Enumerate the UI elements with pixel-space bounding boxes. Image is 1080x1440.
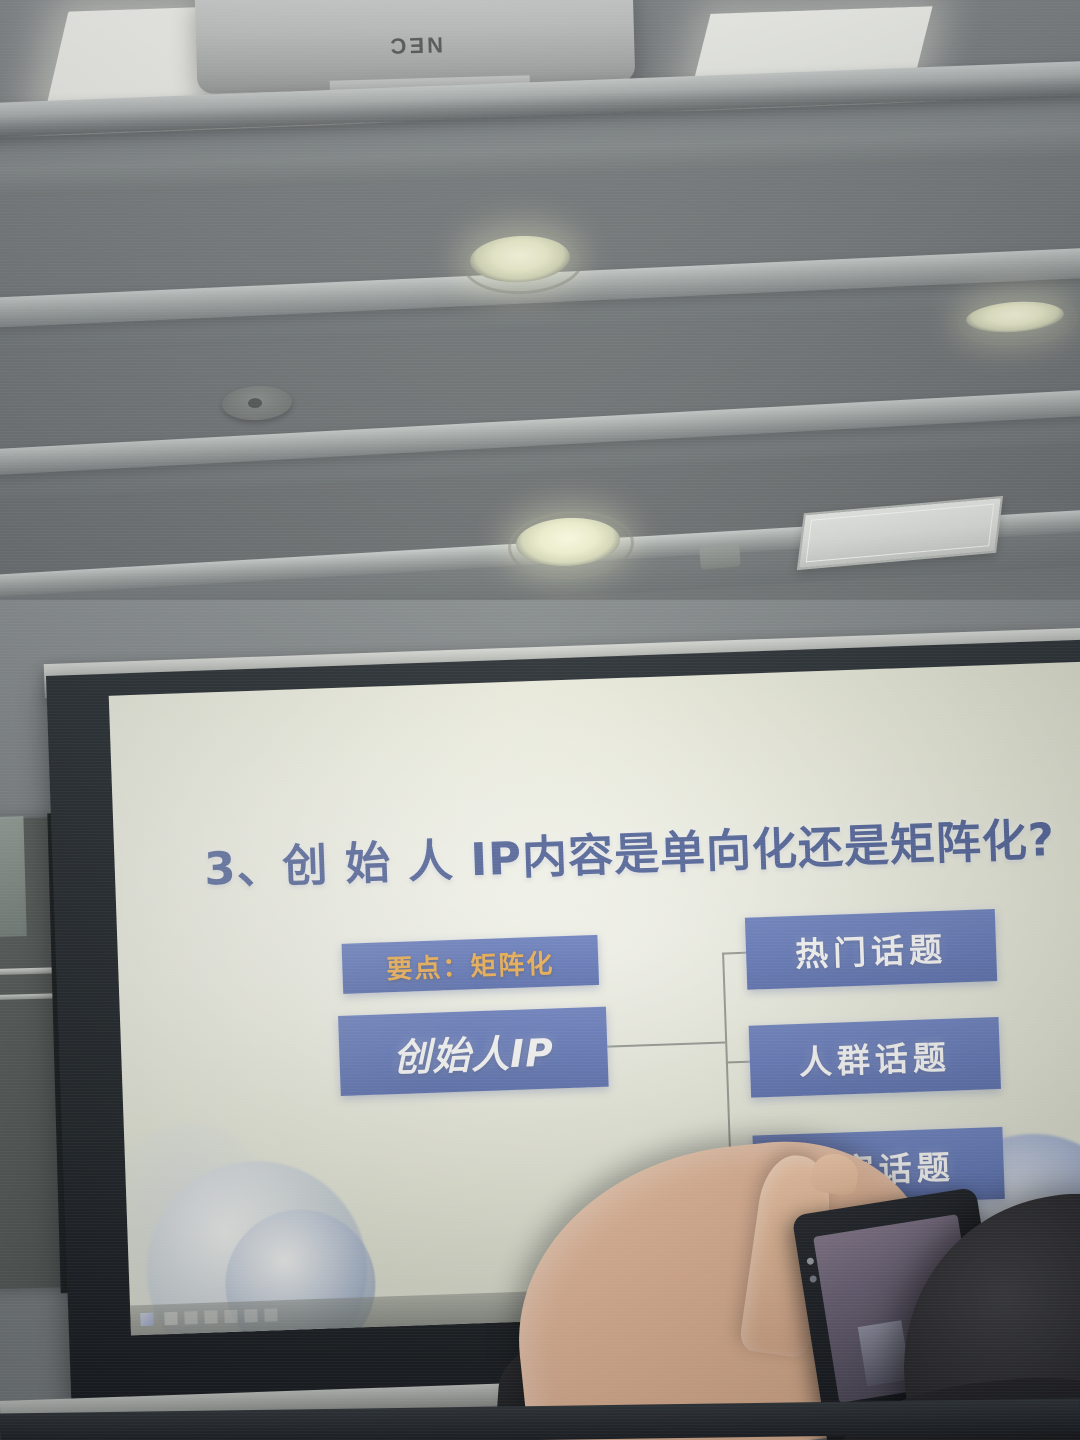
connector-branch-2 xyxy=(726,1061,752,1064)
slide-title: 3、创 始 人 IP内容是单向化还是矩阵化? xyxy=(114,800,1080,901)
connector-branch-1 xyxy=(722,952,748,955)
start-icon[interactable] xyxy=(140,1313,153,1326)
diagram-key-point-box: 要点：矩阵化 xyxy=(342,935,600,994)
diagram-branch-box-1: 热门话题 xyxy=(745,909,997,990)
diagram-main-label: 创始人IP xyxy=(392,1021,555,1082)
ceiling: NEC xyxy=(0,0,1080,700)
app-icon-6[interactable] xyxy=(264,1308,277,1321)
cabinet-glass-panel xyxy=(0,816,27,938)
diagram-key-point-label: 要点：矩阵化 xyxy=(386,943,555,986)
projector-brand-label: NEC xyxy=(387,31,443,59)
app-icon-5[interactable] xyxy=(244,1309,257,1322)
room-photo-scene: NEC 3、创 xyxy=(0,0,1080,1440)
cabinet-handle-lower xyxy=(0,993,54,1000)
app-icon-2[interactable] xyxy=(184,1311,197,1324)
app-icon-1[interactable] xyxy=(164,1312,177,1325)
app-icon-3[interactable] xyxy=(204,1310,217,1323)
smoke-detector xyxy=(221,384,293,422)
connector-stem xyxy=(607,1042,725,1048)
smartphone-sensor xyxy=(809,1275,817,1283)
diagram-branch-label-2: 人群话题 xyxy=(798,1031,952,1084)
ceiling-small-fixture xyxy=(699,544,741,569)
app-icon-4[interactable] xyxy=(224,1310,237,1323)
diagram-branch-box-2: 人群话题 xyxy=(749,1017,1001,1098)
diagram-branch-label-1: 热门话题 xyxy=(794,923,948,976)
smartphone-camera-lens xyxy=(806,1257,814,1265)
diagram-main-box: 创始人IP xyxy=(338,1007,609,1096)
cabinet-handle-upper xyxy=(0,967,54,975)
smartphone-screen-highlight xyxy=(858,1320,911,1386)
